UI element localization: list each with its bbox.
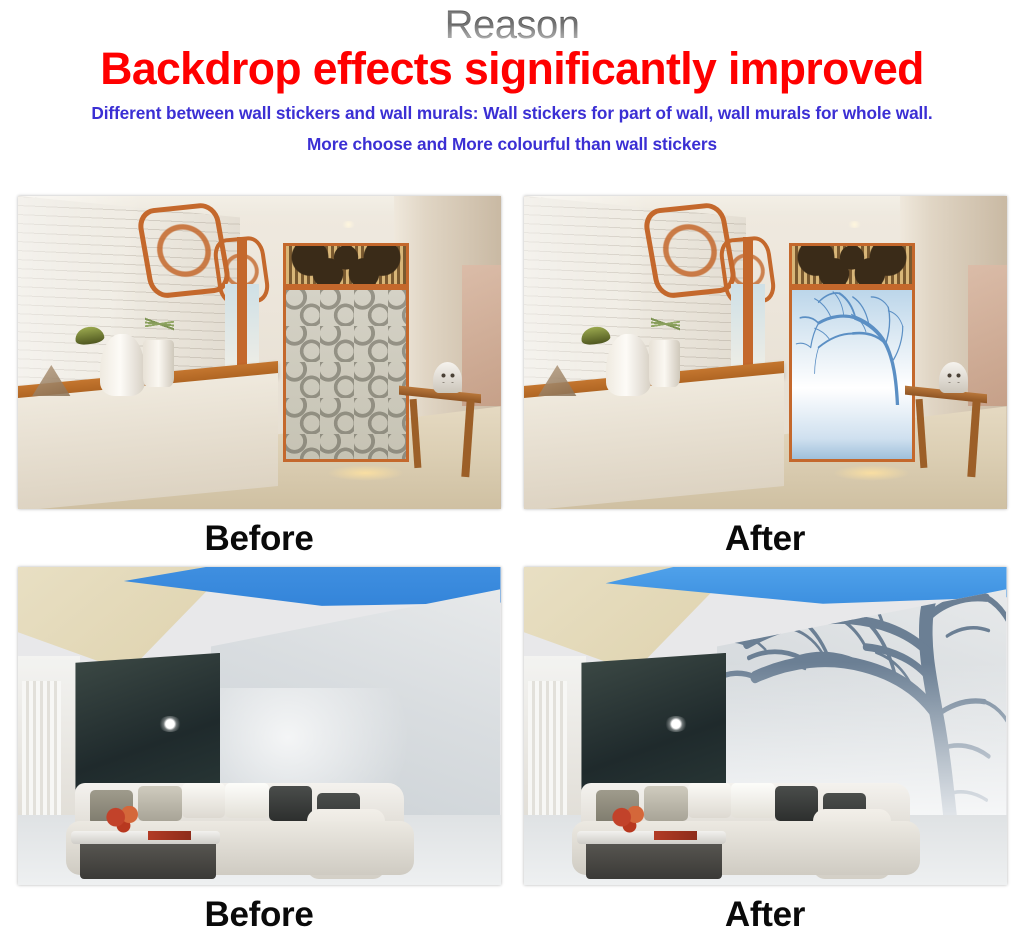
page-title: Backdrop effects significantly improved [5,44,1019,94]
panel-living-before: Before [18,567,501,936]
fretwork-transom [283,243,409,287]
tree-mural-icon [789,287,915,405]
panel-hallway-after: After [524,196,1007,560]
cushion [225,783,268,818]
book-on-table [654,831,697,841]
decor-figurine [433,362,462,393]
ceiling-spotlight-icon [341,221,355,228]
cushion [182,783,225,818]
floor-light-pool [833,465,910,481]
feature-wall-circle-pattern [283,287,409,462]
cushion [731,783,774,818]
book-on-table [148,831,191,841]
promo-header: Reason Backdrop effects significantly im… [0,0,1024,159]
small-vase [143,340,174,387]
cushion [775,786,818,821]
caption-before: Before [18,509,501,560]
ceiling-spotlight-icon [847,221,861,228]
comparison-row-hallway: Before [0,196,1024,560]
fretwork-transom [789,243,915,287]
coffee-table-top [71,831,221,844]
cushion [138,786,181,821]
photo-hallway-after [524,196,1007,509]
photo-hallway-before [18,196,501,509]
caption-after: After [524,509,1007,560]
cushion [644,786,687,821]
caption-after: After [524,885,1007,936]
caption-before: Before [18,885,501,936]
coffee-table-top [577,831,727,844]
cushion [688,783,731,818]
before-after-grid: Before [0,196,1024,936]
hanging-fabric [968,265,1007,406]
subtitle-line-2: More choose and More colourful than wall… [8,129,1017,159]
flower-vase-icon [104,806,143,835]
flower-vase-icon [610,806,649,835]
radiator [528,681,567,834]
panel-hallway-before: Before [18,196,501,560]
panel-living-after: After [524,567,1007,936]
header-eyebrow: Reason [445,2,580,48]
decor-figurine [939,362,968,393]
subtitle-line-1: Different between wall stickers and wall… [8,98,1017,128]
small-vase [649,340,680,387]
hanging-fabric [462,265,501,406]
feature-wall-tree-mural [789,287,915,462]
photo-living-before [18,567,501,885]
comparison-row-living-room: Before [0,567,1024,936]
photo-living-after [524,567,1007,885]
radiator [22,681,61,834]
floor-light-pool [327,465,404,481]
cushion [269,786,312,821]
